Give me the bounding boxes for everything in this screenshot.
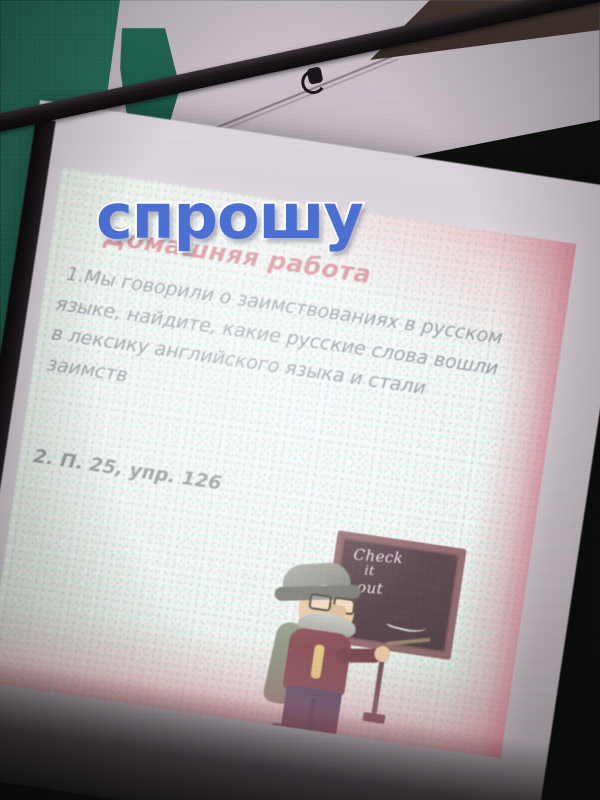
screen-roller-hook-icon	[297, 60, 328, 93]
chalk-line-1: Check	[353, 546, 404, 568]
projected-slide: Домашняя работа 1.Мы говорили о заимство…	[0, 168, 576, 758]
classroom-photo-scene: Домашняя работа 1.Мы говорили о заимство…	[0, 0, 600, 800]
slide-body: 1.Мы говорили о заимствованиях в русском…	[45, 261, 577, 464]
slide-item-2: 2. П. 25, упр. 126	[32, 445, 223, 494]
teacher-blackboard-clipart: Check it out	[250, 520, 479, 757]
glasses-lens-left	[308, 593, 332, 612]
hook-knob	[306, 66, 323, 85]
overlay-word-sproshu: спрошу	[96, 186, 363, 248]
